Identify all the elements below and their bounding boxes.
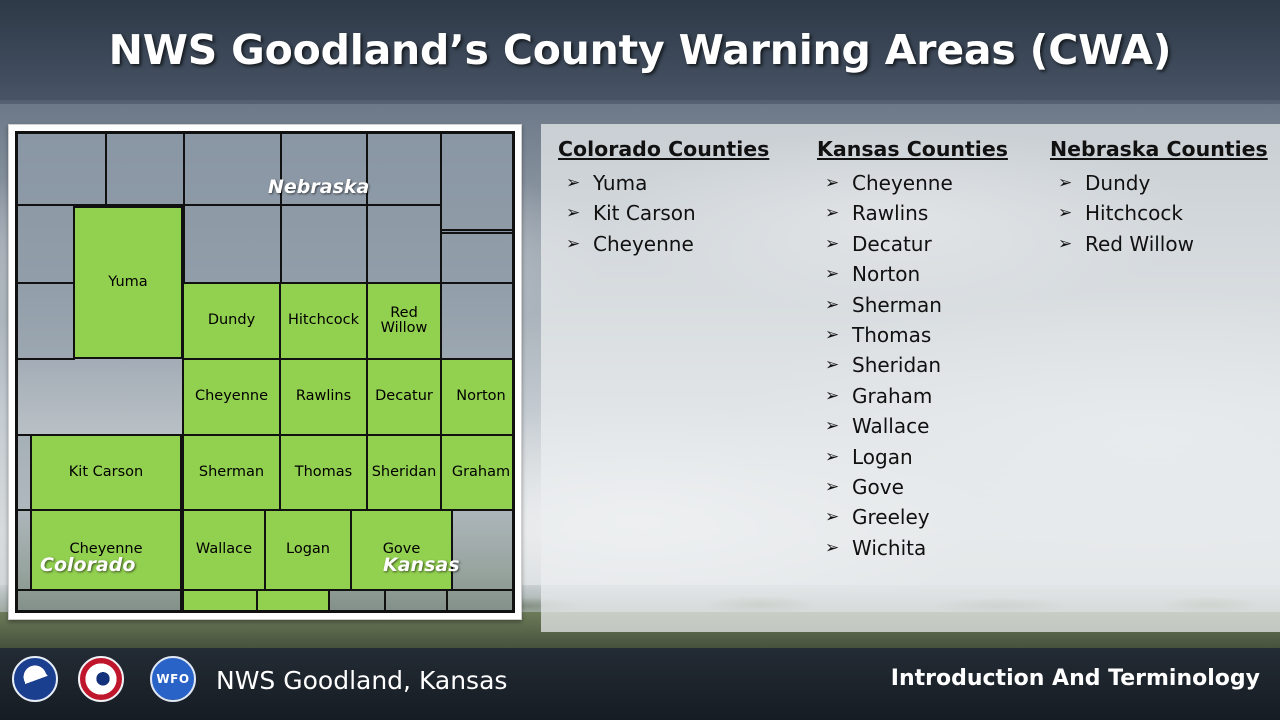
- arrow-bullet-icon: ➢: [825, 320, 839, 350]
- arrow-bullet-icon: ➢: [825, 502, 839, 532]
- nebraska-counties-column: Nebraska Counties ➢Dundy ➢Hitchcock ➢Red…: [1050, 137, 1280, 259]
- map-county-dundy: Dundy: [182, 282, 281, 360]
- map-county-label: Dundy: [208, 313, 255, 328]
- state-label-kansas: Kansas: [383, 554, 460, 576]
- list-item-label: Yuma: [593, 171, 647, 195]
- list-item-label: Sheridan: [852, 353, 941, 377]
- list-item: ➢Decatur: [817, 229, 1062, 259]
- arrow-bullet-icon: ➢: [1058, 168, 1072, 198]
- map-county-wallace: Wallace: [182, 509, 266, 591]
- list-item: ➢Rawlins: [817, 198, 1062, 228]
- list-item: ➢Wallace: [817, 411, 1062, 441]
- list-item-label: Wichita: [852, 536, 926, 560]
- list-item: ➢Norton: [817, 259, 1062, 289]
- map-county-red-willow: Red Willow: [366, 282, 442, 360]
- map-county-label: Sheridan: [372, 465, 437, 480]
- state-label-nebraska: Nebraska: [268, 176, 369, 198]
- map-county-label: Red Willow: [368, 306, 440, 336]
- map-county-sheridan: Sheridan: [366, 434, 442, 511]
- map-county-gray: [105, 131, 185, 206]
- footer-office-label: NWS Goodland, Kansas: [216, 666, 507, 695]
- map-county-label: Yuma: [108, 275, 147, 290]
- arrow-bullet-icon: ➢: [825, 381, 839, 411]
- list-item: ➢Wichita: [817, 533, 1062, 563]
- list-item-label: Graham: [852, 384, 932, 408]
- kansas-counties-column: Kansas Counties ➢Cheyenne ➢Rawlins ➢Deca…: [817, 137, 1062, 563]
- arrow-bullet-icon: ➢: [566, 168, 580, 198]
- map-county-graham: Graham: [440, 434, 515, 511]
- list-item: ➢Greeley: [817, 502, 1062, 532]
- arrow-bullet-icon: ➢: [825, 168, 839, 198]
- map-county-cheyenne-ks: Cheyenne: [182, 358, 281, 436]
- map-county-label: Norton: [456, 389, 505, 404]
- list-item: ➢Gove: [817, 472, 1062, 502]
- map-county-rawlins: Rawlins: [279, 358, 368, 436]
- map-county-gray: [15, 509, 32, 591]
- list-item-label: Rawlins: [852, 201, 928, 225]
- list-item: ➢Thomas: [817, 320, 1062, 350]
- list-item-label: Cheyenne: [593, 232, 694, 256]
- map-county-yuma: Yuma: [73, 206, 183, 359]
- map-county-gray: [440, 232, 515, 284]
- map-county-gray: [15, 282, 75, 360]
- map-county-label: Decatur: [375, 389, 433, 404]
- arrow-bullet-icon: ➢: [825, 229, 839, 259]
- map-county-label: Sherman: [199, 465, 264, 480]
- list-item-label: Logan: [852, 445, 913, 469]
- map-county-gray: [15, 131, 107, 206]
- cwa-map: Yuma Dundy Hitchcock Red Willow Cheyenne…: [8, 124, 522, 620]
- colorado-counties-column: Colorado Counties ➢Yuma ➢Kit Carson ➢Che…: [558, 137, 803, 259]
- arrow-bullet-icon: ➢: [566, 229, 580, 259]
- list-item: ➢Yuma: [558, 168, 803, 198]
- list-item-label: Decatur: [852, 232, 932, 256]
- list-item-label: Greeley: [852, 505, 930, 529]
- arrow-bullet-icon: ➢: [1058, 229, 1072, 259]
- map-county-gray: [366, 204, 442, 284]
- list-item: ➢Sherman: [817, 290, 1062, 320]
- map-county-label: Graham: [452, 465, 510, 480]
- list-item-label: Dundy: [1085, 171, 1150, 195]
- map-county-label: Logan: [286, 542, 330, 557]
- list-item-label: Hitchcock: [1085, 201, 1183, 225]
- map-county-decatur: Decatur: [366, 358, 442, 436]
- map-county-gray: [440, 131, 515, 231]
- map-county-logan: Logan: [264, 509, 352, 591]
- map-county-gray: [446, 589, 515, 613]
- county-lists-panel: Colorado Counties ➢Yuma ➢Kit Carson ➢Che…: [541, 124, 1280, 632]
- map-county-gove: Gove: [350, 509, 453, 591]
- list-item-label: Gove: [852, 475, 904, 499]
- map-county-gray: [440, 282, 515, 360]
- footer-section-label: Introduction And Terminology: [891, 666, 1260, 691]
- map-county-hitchcock: Hitchcock: [279, 282, 368, 360]
- map-county-gray: [280, 204, 368, 284]
- noaa-logo-icon: [12, 656, 58, 702]
- page-title: NWS Goodland’s County Warning Areas (CWA…: [0, 26, 1280, 74]
- arrow-bullet-icon: ➢: [825, 472, 839, 502]
- map-county-label: Thomas: [295, 465, 352, 480]
- kansas-counties-heading: Kansas Counties: [817, 137, 1062, 161]
- map-county-cheyenne-co: Cheyenne: [30, 509, 182, 591]
- list-item-label: Thomas: [852, 323, 931, 347]
- arrow-bullet-icon: ➢: [825, 259, 839, 289]
- colorado-counties-list: ➢Yuma ➢Kit Carson ➢Cheyenne: [558, 168, 803, 259]
- map-county-gray: [15, 204, 75, 284]
- map-canvas: Yuma Dundy Hitchcock Red Willow Cheyenne…: [15, 131, 515, 613]
- map-county-thomas: Thomas: [279, 434, 368, 511]
- kansas-counties-list: ➢Cheyenne ➢Rawlins ➢Decatur ➢Norton ➢She…: [817, 168, 1062, 563]
- map-county-label: Cheyenne: [195, 389, 268, 404]
- map-county-gray: [384, 589, 448, 613]
- colorado-counties-heading: Colorado Counties: [558, 137, 803, 161]
- nws-logo-icon: [78, 656, 124, 702]
- map-county-gray: [451, 509, 515, 591]
- arrow-bullet-icon: ➢: [825, 533, 839, 563]
- map-county-kit-carson: Kit Carson: [30, 434, 182, 511]
- list-item: ➢Graham: [817, 381, 1062, 411]
- list-item: ➢Cheyenne: [817, 168, 1062, 198]
- arrow-bullet-icon: ➢: [825, 198, 839, 228]
- map-county-label: Hitchcock: [288, 313, 359, 328]
- arrow-bullet-icon: ➢: [825, 350, 839, 380]
- list-item-label: Wallace: [852, 414, 929, 438]
- map-county-gray: [366, 131, 442, 206]
- list-item-label: Kit Carson: [593, 201, 696, 225]
- map-county-sherman: Sherman: [182, 434, 281, 511]
- map-county-label: Wallace: [196, 542, 252, 557]
- wfo-logo-icon: WFO: [150, 656, 196, 702]
- map-county-label: Kit Carson: [69, 465, 143, 480]
- map-county-norton: Norton: [440, 358, 515, 436]
- list-item: ➢Red Willow: [1050, 229, 1280, 259]
- arrow-bullet-icon: ➢: [825, 290, 839, 320]
- arrow-bullet-icon: ➢: [825, 411, 839, 441]
- map-county-gray: [183, 204, 282, 284]
- map-county-gray: [15, 434, 32, 511]
- list-item-label: Red Willow: [1085, 232, 1194, 256]
- arrow-bullet-icon: ➢: [825, 442, 839, 472]
- list-item: ➢Cheyenne: [558, 229, 803, 259]
- map-county-gray: [328, 589, 386, 613]
- list-item: ➢Hitchcock: [1050, 198, 1280, 228]
- list-item: ➢Dundy: [1050, 168, 1280, 198]
- map-county-greeley: Greeley: [182, 589, 258, 613]
- nebraska-counties-list: ➢Dundy ➢Hitchcock ➢Red Willow: [1050, 168, 1280, 259]
- map-county-wichita: Wichita: [256, 589, 330, 613]
- nebraska-counties-heading: Nebraska Counties: [1050, 137, 1280, 161]
- arrow-bullet-icon: ➢: [566, 198, 580, 228]
- list-item-label: Norton: [852, 262, 920, 286]
- list-item: ➢Logan: [817, 442, 1062, 472]
- list-item: ➢Sheridan: [817, 350, 1062, 380]
- list-item-label: Sherman: [852, 293, 942, 317]
- arrow-bullet-icon: ➢: [1058, 198, 1072, 228]
- map-county-gray: [15, 589, 182, 613]
- list-item-label: Cheyenne: [852, 171, 953, 195]
- state-label-colorado: Colorado: [40, 554, 135, 576]
- list-item: ➢Kit Carson: [558, 198, 803, 228]
- map-county-label: Rawlins: [296, 389, 351, 404]
